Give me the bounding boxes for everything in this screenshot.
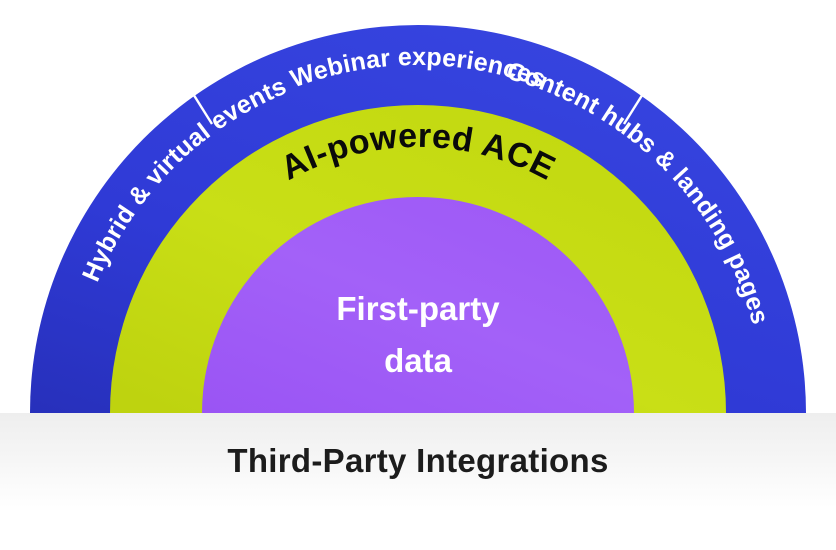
- core-label-line2: data: [384, 342, 453, 379]
- base-band-label: Third-Party Integrations: [227, 442, 608, 479]
- concentric-semicircle-diagram: Webinar experiences Hybrid & virtual eve…: [0, 0, 836, 550]
- core-label-line1: First-party: [336, 290, 500, 327]
- diagram-canvas: Webinar experiences Hybrid & virtual eve…: [0, 0, 836, 550]
